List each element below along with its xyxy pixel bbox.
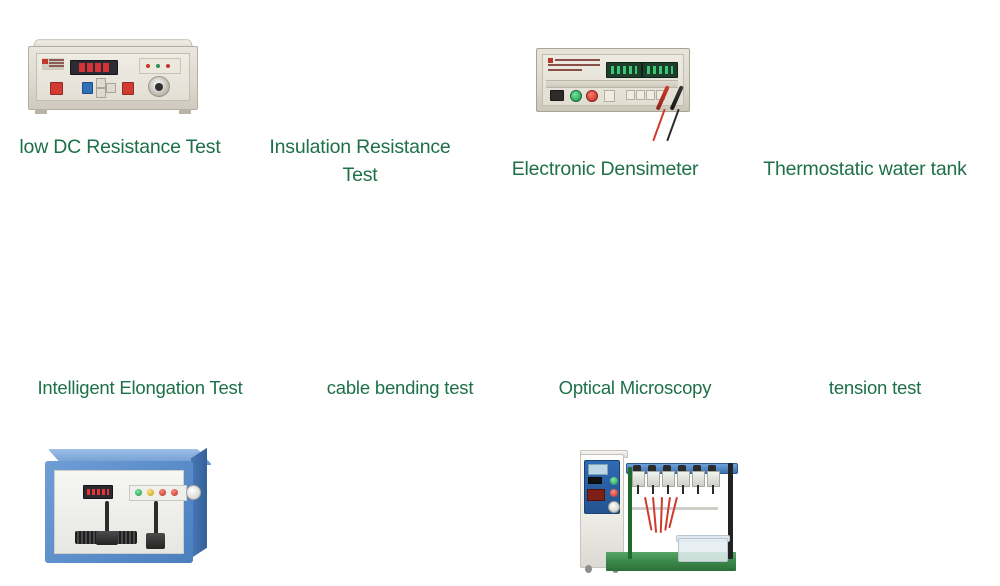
terminal-block xyxy=(139,58,181,74)
product-cell-tension-test[interactable]: tension test xyxy=(750,211,1000,423)
product-image-electronic-densimeter xyxy=(480,0,730,140)
product-cell-thermostatic-water-tank[interactable]: Thermostatic water tank xyxy=(730,0,1000,211)
caption-intelligent-elongation-test: Intelligent Elongation Test xyxy=(0,375,280,402)
caption-thermostatic-water-tank: Thermostatic water tank xyxy=(730,155,1000,183)
front-panel xyxy=(54,470,184,554)
clamp-head-left[interactable] xyxy=(96,531,118,545)
product-image-intelligent-elongation-test xyxy=(0,211,280,371)
clamp-post-left xyxy=(105,501,109,535)
rotary-connector[interactable] xyxy=(148,76,170,97)
product-image-optical-microscopy xyxy=(520,211,750,371)
caption-electronic-densimeter: Electronic Densimeter xyxy=(480,155,730,183)
product-cell-insulation-resistance-test[interactable]: Insulation Resistance Test xyxy=(240,0,480,211)
test-wire-3 xyxy=(660,497,663,533)
product-grid: low DC Resistance Test xyxy=(0,0,1000,423)
keypad-button-up[interactable] xyxy=(96,78,106,88)
clamp-post-right xyxy=(154,501,158,537)
product-image-tension-test xyxy=(750,211,1000,371)
speed-knob[interactable] xyxy=(608,501,620,513)
caption-tension-test: tension test xyxy=(750,375,1000,402)
product-cell-low-dc-resistance-test[interactable]: low DC Resistance Test xyxy=(0,0,240,211)
product-image-insulation-resistance-test xyxy=(240,0,480,140)
function-button[interactable] xyxy=(82,82,93,94)
led-display xyxy=(70,60,118,75)
clamp-head-right[interactable] xyxy=(146,533,165,549)
elongation-tester-body xyxy=(45,461,193,563)
timer-display xyxy=(587,489,605,501)
caption-optical-microscopy: Optical Microscopy xyxy=(520,375,750,402)
weight-bin xyxy=(678,538,728,562)
product-image-thermostatic-water-tank xyxy=(730,0,1000,140)
product-image-low-dc-resistance-test xyxy=(0,0,240,140)
stop-button[interactable] xyxy=(610,489,618,497)
brand-logo-icon xyxy=(42,58,64,70)
support-post-right xyxy=(728,463,733,559)
caption-low-dc-resistance-test: low DC Resistance Test xyxy=(0,133,240,161)
product-cell-cable-bending-test[interactable]: cable bending test xyxy=(280,211,520,423)
product-cell-optical-microscopy[interactable]: Optical Microscopy xyxy=(520,211,750,423)
rocker-switch[interactable] xyxy=(588,477,602,484)
counter-display xyxy=(588,464,608,475)
power-button[interactable] xyxy=(50,82,63,95)
start-button[interactable] xyxy=(610,477,618,485)
caption-insulation-resistance-test: Insulation Resistance Test xyxy=(240,133,480,190)
keypad-button-down[interactable] xyxy=(96,88,106,98)
product-image-cable-bending-test xyxy=(280,211,520,371)
test-wire-2 xyxy=(652,497,657,533)
adjust-dial[interactable] xyxy=(186,485,201,500)
cabinet-side xyxy=(191,448,207,558)
clamp-assembly[interactable] xyxy=(632,471,728,493)
test-wire-1 xyxy=(644,497,652,531)
keypad-button-right[interactable] xyxy=(106,83,116,93)
product-cell-electronic-densimeter[interactable]: Electronic Densimeter xyxy=(480,0,730,211)
reset-button[interactable] xyxy=(122,82,134,95)
product-cell-intelligent-elongation-test[interactable]: Intelligent Elongation Test xyxy=(0,211,280,423)
led-display xyxy=(83,485,113,499)
caption-cable-bending-test: cable bending test xyxy=(280,375,520,402)
indicator-row xyxy=(129,485,187,501)
support-post-left xyxy=(628,467,632,559)
